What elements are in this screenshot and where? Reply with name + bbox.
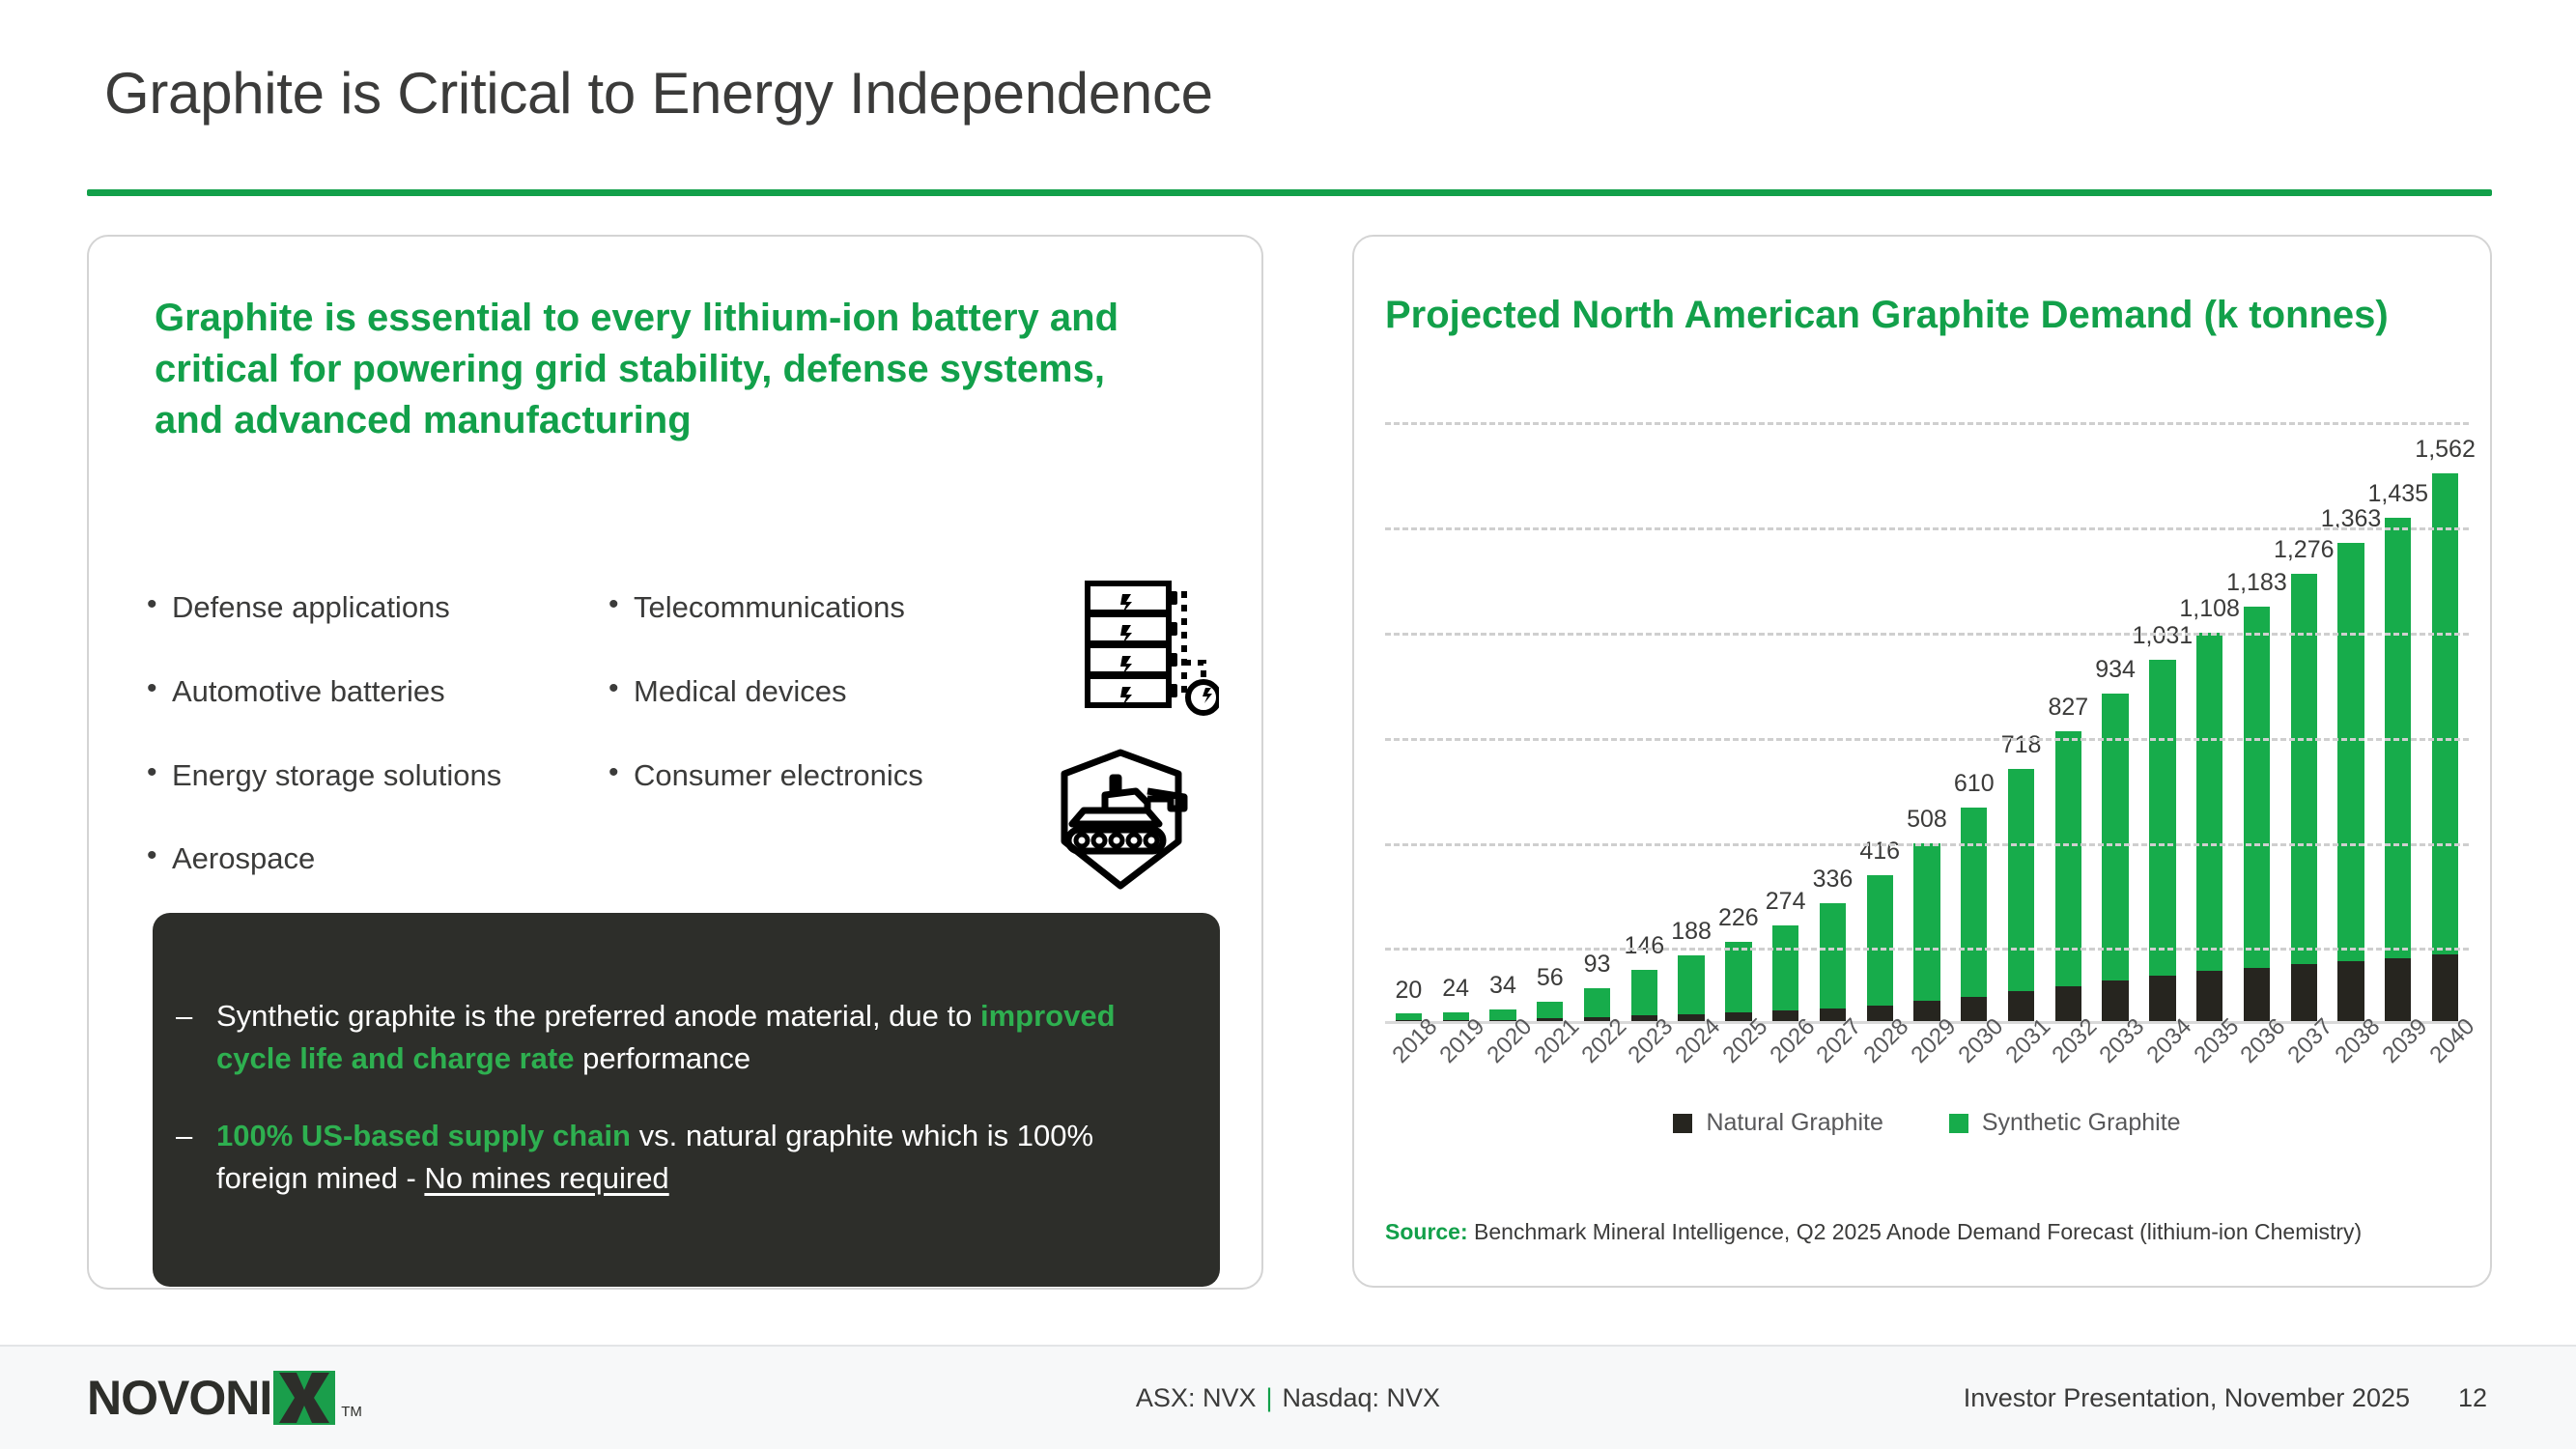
- callout-dash-marker: –: [176, 1115, 216, 1157]
- chart-bar: [2055, 731, 2081, 1021]
- chart-legend-item: Synthetic Graphite: [1949, 1109, 2181, 1137]
- chart-bar-segment-synthetic: [2244, 607, 2270, 968]
- chart-x-tick: 2032: [2045, 1032, 2092, 1109]
- chart-bar: [1820, 903, 1846, 1021]
- chart-bar-value-label: 56: [1537, 964, 1564, 992]
- chart-bar-group: 610: [1950, 425, 1997, 1021]
- chart-bar-segment-natural: [2008, 991, 2034, 1021]
- chart-bar-value-label: 1,031: [2133, 622, 2194, 650]
- bullet-marker-icon: •: [147, 671, 172, 706]
- bullet-marker-icon: •: [609, 671, 634, 706]
- chart-bar-value-label: 1,435: [2368, 480, 2429, 508]
- chart-bar-group: 1,108: [2186, 425, 2233, 1021]
- chart-bar: [1537, 1002, 1563, 1021]
- chart-x-tick: 2038: [2328, 1032, 2375, 1109]
- title-divider: [87, 189, 2492, 196]
- chart-bar-group: 24: [1432, 425, 1480, 1021]
- chart-bar-segment-synthetic: [2149, 660, 2175, 976]
- bullet-marker-icon: •: [609, 587, 634, 622]
- chart-bar-value-label: 1,108: [2179, 595, 2240, 623]
- chart-bar: [1584, 988, 1610, 1021]
- chart-x-tick: 2031: [1997, 1032, 2045, 1109]
- chart-x-tick: 2028: [1856, 1032, 1904, 1109]
- chart-legend-swatch: [1949, 1114, 1968, 1133]
- chart-source-note: Source: Benchmark Mineral Intelligence, …: [1385, 1219, 2467, 1245]
- chart-bar-value-label: 1,276: [2274, 536, 2335, 564]
- chart-bar-value-label: 827: [2048, 694, 2088, 722]
- chart-bar-value-label: 226: [1718, 904, 1759, 932]
- chart-bar: [2432, 473, 2458, 1021]
- chart-bar-group: 416: [1856, 425, 1904, 1021]
- chart-x-tick: 2039: [2374, 1032, 2421, 1109]
- chart-x-tick: 2019: [1432, 1032, 1480, 1109]
- chart-bar: [1678, 955, 1704, 1021]
- chart-bar-group: 1,183: [2233, 425, 2280, 1021]
- chart-bar-segment-synthetic: [1537, 1002, 1563, 1019]
- chart-bar-value-label: 274: [1766, 888, 1806, 916]
- callout-dash-marker: –: [176, 995, 216, 1037]
- chart-gridline: [1385, 527, 2469, 530]
- armored-tank-shield-icon: [1055, 749, 1238, 894]
- bullet-label: Aerospace: [172, 838, 315, 880]
- chart-bar-segment-synthetic: [2102, 694, 2128, 980]
- chart-bar-segment-natural: [2244, 968, 2270, 1021]
- chart-bar-segment-synthetic: [1584, 988, 1610, 1017]
- chart-bar: [2102, 694, 2128, 1021]
- footer-page-number: 12: [2458, 1383, 2487, 1413]
- chart-legend-label: Synthetic Graphite: [1982, 1109, 2181, 1137]
- chart-bar-group: 56: [1526, 425, 1573, 1021]
- chart-bar-group: 1,031: [2139, 425, 2187, 1021]
- chart-bars: 2024345693146188226274336416508610718827…: [1385, 425, 2469, 1021]
- chart-bar-segment-synthetic: [1867, 875, 1893, 1006]
- chart-x-tick: 2040: [2421, 1032, 2469, 1109]
- chart-x-tick: 2018: [1385, 1032, 1432, 1109]
- chart-bar-segment-natural: [2196, 971, 2222, 1021]
- callout-highlight: improved cycle life and charge rate: [216, 999, 1116, 1075]
- bullet-column-right: •Telecommunications•Medical devices•Cons…: [609, 587, 1053, 838]
- chart-bar: [1913, 843, 1939, 1021]
- bullet-column-left: •Defense applications•Automotive batteri…: [147, 587, 630, 923]
- chart-bar-segment-natural: [2102, 980, 2128, 1021]
- chart-x-tick: 2035: [2186, 1032, 2233, 1109]
- callout-highlight: 100% US-based supply chain: [216, 1119, 631, 1152]
- bullet-item: •Automotive batteries: [147, 671, 630, 713]
- chart-gridline: [1385, 843, 2469, 846]
- chart-x-tick: 2020: [1480, 1032, 1527, 1109]
- chart-x-tick: 2033: [2092, 1032, 2139, 1109]
- footer-asx: ASX: NVX: [1136, 1383, 1257, 1412]
- chart-bar-group: 226: [1714, 425, 1762, 1021]
- chart-bar-group: 146: [1621, 425, 1668, 1021]
- chart-bar-group: 336: [1809, 425, 1856, 1021]
- bullet-label: Consumer electronics: [634, 755, 923, 797]
- chart-x-tick: 2027: [1809, 1032, 1856, 1109]
- chart-bar-value-label: 34: [1489, 972, 1516, 1000]
- battery-stack-icon: [1084, 576, 1219, 721]
- chart-bar: [1961, 808, 1987, 1021]
- chart-bar: [2149, 660, 2175, 1021]
- chart-bar-segment-synthetic: [1725, 942, 1751, 1012]
- chart-bar-value-label: 416: [1859, 838, 1900, 866]
- chart-bar-value-label: 336: [1813, 866, 1854, 894]
- chart-x-tick: 2030: [1950, 1032, 1997, 1109]
- chart-x-tick: 2025: [1714, 1032, 1762, 1109]
- chart-bar-value-label: 188: [1671, 918, 1712, 946]
- chart-gridline: [1385, 948, 2469, 951]
- chart-plot-area: 2024345693146188226274336416508610718827…: [1385, 425, 2469, 1024]
- chart-bar-group: 34: [1480, 425, 1527, 1021]
- chart-bar-group: 827: [2045, 425, 2092, 1021]
- chart-gridline: [1385, 633, 2469, 636]
- chart-bar-group: 934: [2092, 425, 2139, 1021]
- chart-x-tick: 2026: [1762, 1032, 1809, 1109]
- chart-bar-segment-synthetic: [1772, 925, 1798, 1011]
- chart-bar: [2291, 574, 2317, 1021]
- source-label: Source:: [1385, 1219, 1468, 1244]
- chart-bar-value-label: 934: [2095, 656, 2136, 684]
- chart-bar-group: 20: [1385, 425, 1432, 1021]
- chart-bar-value-label: 1,562: [2415, 436, 2476, 464]
- chart-bar-segment-synthetic: [1631, 970, 1657, 1015]
- chart-bar-segment-synthetic: [1961, 808, 1987, 997]
- chart-x-tick: 2021: [1526, 1032, 1573, 1109]
- bullet-label: Telecommunications: [634, 587, 905, 629]
- chart-bar-group: 274: [1762, 425, 1809, 1021]
- chart-bar-group: 188: [1668, 425, 1715, 1021]
- chart-bar-value-label: 24: [1442, 975, 1469, 1003]
- chart-bar-segment-synthetic: [2337, 543, 2364, 960]
- chart-bar: [2244, 607, 2270, 1021]
- bullet-item: •Telecommunications: [609, 587, 1053, 629]
- chart-x-tick: 2023: [1621, 1032, 1668, 1109]
- chart-bar: [1631, 970, 1657, 1021]
- chart-bar-group: 1,363: [2328, 425, 2375, 1021]
- chart-x-tick: 2037: [2280, 1032, 2328, 1109]
- footer-nasdaq: Nasdaq: NVX: [1282, 1383, 1440, 1412]
- chart-x-tick: 2022: [1573, 1032, 1621, 1109]
- chart-x-tick: 2036: [2233, 1032, 2280, 1109]
- chart-bar-segment-synthetic: [2008, 769, 2034, 991]
- chart-legend-item: Natural Graphite: [1673, 1109, 1882, 1137]
- chart-bar-segment-synthetic: [1913, 843, 1939, 1002]
- callout-text: Synthetic graphite is the preferred anod…: [216, 995, 1144, 1080]
- chart-bar-segment-natural: [2385, 958, 2411, 1021]
- callout-item: –Synthetic graphite is the preferred ano…: [176, 995, 1204, 1080]
- chart-legend: Natural GraphiteSynthetic Graphite: [1385, 1109, 2469, 1137]
- source-text: Benchmark Mineral Intelligence, Q2 2025 …: [1468, 1219, 2363, 1244]
- chart-bar-value-label: 93: [1584, 951, 1611, 979]
- chart-bar-group: 1,562: [2421, 425, 2469, 1021]
- chart-bar-segment-synthetic: [1678, 955, 1704, 1014]
- chart-legend-label: Natural Graphite: [1706, 1109, 1882, 1137]
- chart-bar-segment-natural: [2055, 986, 2081, 1021]
- chart-gridline: [1385, 422, 2469, 425]
- slide-root: Graphite is Critical to Energy Independe…: [0, 0, 2576, 1449]
- chart-bar-segment-natural: [2337, 961, 2364, 1021]
- chart-bar-value-label: 508: [1907, 806, 1947, 834]
- chart-bar-group: 1,435: [2374, 425, 2421, 1021]
- footer-separator: |: [1256, 1383, 1282, 1412]
- chart-bar: [1725, 942, 1751, 1021]
- chart-bar: [2196, 633, 2222, 1021]
- chart-bar-group: 508: [1904, 425, 1951, 1021]
- chart-bar-segment-synthetic: [2196, 633, 2222, 971]
- chart-x-axis-labels: 2018201920202021202220232024202520262027…: [1385, 1032, 2469, 1109]
- chart-bar-value-label: 610: [1954, 770, 1995, 798]
- chart-bar: [2385, 518, 2411, 1021]
- chart-gridline: [1385, 738, 2469, 741]
- callout-list: –Synthetic graphite is the preferred ano…: [176, 995, 1204, 1235]
- page-title: Graphite is Critical to Energy Independe…: [104, 60, 1213, 127]
- bullet-marker-icon: •: [147, 587, 172, 622]
- bullet-item: •Consumer electronics: [609, 755, 1053, 797]
- bullet-label: Automotive batteries: [172, 671, 445, 713]
- chart-bar: [1772, 925, 1798, 1021]
- footer-presentation-label: Investor Presentation, November 2025: [1964, 1383, 2410, 1413]
- chart-x-tick: 2024: [1668, 1032, 1715, 1109]
- chart-bar-value-label: 20: [1395, 977, 1422, 1005]
- chart-title: Projected North American Graphite Demand…: [1385, 290, 2477, 340]
- bullet-item: •Medical devices: [609, 671, 1053, 713]
- chart-bar: [2008, 769, 2034, 1021]
- bullet-item: •Energy storage solutions: [147, 755, 630, 797]
- chart-bar-segment-natural: [1961, 997, 1987, 1021]
- callout-text: 100% US-based supply chain vs. natural g…: [216, 1115, 1144, 1200]
- chart-x-tick: 2029: [1904, 1032, 1951, 1109]
- bullet-item: •Aerospace: [147, 838, 630, 880]
- chart-bar-segment-natural: [2291, 964, 2317, 1021]
- callout-underlined-phrase: No mines required: [424, 1161, 668, 1195]
- bullet-marker-icon: •: [609, 755, 634, 790]
- chart-bar-value-label: 1,183: [2226, 569, 2287, 597]
- bullet-label: Energy storage solutions: [172, 755, 501, 797]
- chart-axis-baseline: [1385, 1021, 2469, 1024]
- chart-bar-segment-synthetic: [1820, 903, 1846, 1009]
- callout-item: –100% US-based supply chain vs. natural …: [176, 1115, 1204, 1200]
- chart-x-tick: 2034: [2139, 1032, 2187, 1109]
- chart-bar-segment-synthetic: [2432, 473, 2458, 954]
- bullet-marker-icon: •: [147, 755, 172, 790]
- chart-bar-segment-natural: [2432, 954, 2458, 1021]
- chart-bar-group: 718: [1997, 425, 2045, 1021]
- chart-bar-value-label: 718: [2001, 731, 2042, 759]
- chart-bar-segment-natural: [2149, 976, 2175, 1021]
- chart-bar-value-label: 146: [1624, 932, 1664, 960]
- chart-bar-group: 93: [1573, 425, 1621, 1021]
- bullet-item: •Defense applications: [147, 587, 630, 629]
- chart-legend-swatch: [1673, 1114, 1692, 1133]
- bullet-label: Medical devices: [634, 671, 847, 713]
- lead-statement: Graphite is essential to every lithium-i…: [155, 293, 1140, 447]
- bullet-marker-icon: •: [147, 838, 172, 873]
- bullet-label: Defense applications: [172, 587, 450, 629]
